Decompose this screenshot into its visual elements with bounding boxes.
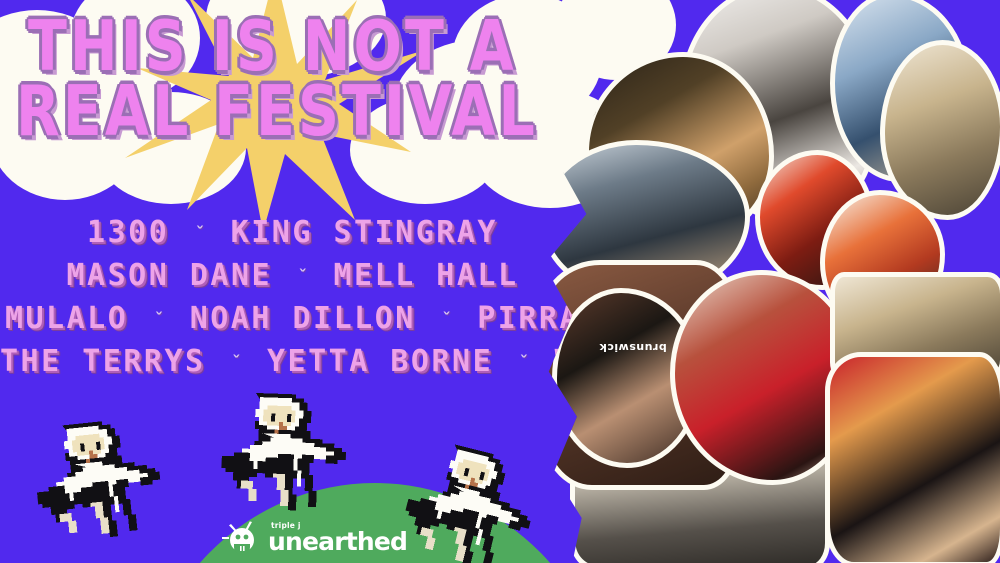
separator-icon: ˇ bbox=[293, 267, 313, 287]
separator-icon: ˇ bbox=[149, 310, 169, 330]
separator-icon: ˇ bbox=[514, 353, 534, 373]
artist-name[interactable]: MULALO bbox=[5, 301, 128, 336]
artist-name[interactable]: MELL HALL bbox=[333, 258, 518, 293]
artist-name[interactable]: PIRRA bbox=[477, 301, 580, 336]
lineup-row: 1300 ˇ KING STINGRAY bbox=[0, 212, 585, 255]
lineup-row: MASON DANE ˇ MELL HALL bbox=[0, 255, 585, 298]
artist-name[interactable]: YETTA BORNE bbox=[267, 344, 493, 379]
triplej-unearthed-logo[interactable]: triple j unearthed bbox=[222, 516, 362, 560]
festival-poster: THIS IS NOT A REAL FESTIVAL 1300 ˇ KING … bbox=[0, 0, 1000, 563]
artist-name[interactable]: 1300 bbox=[87, 215, 169, 250]
separator-icon: ˇ bbox=[226, 353, 246, 373]
photo-red-backdrop-duo bbox=[825, 352, 1000, 563]
pixel-lamb-icon bbox=[29, 408, 166, 552]
artist-name[interactable]: THE TERRYS bbox=[0, 344, 206, 379]
pixel-lamb-icon bbox=[220, 384, 349, 520]
unearthed-label: unearthed bbox=[268, 529, 407, 554]
artist-name[interactable]: KING STINGRAY bbox=[231, 215, 498, 250]
title-line-2: REAL FESTIVAL bbox=[16, 79, 596, 146]
logo-wordmark: triple j unearthed bbox=[268, 522, 407, 555]
artist-name[interactable]: NOAH DILLON bbox=[190, 301, 416, 336]
artist-name[interactable]: MASON DANE bbox=[66, 258, 272, 293]
separator-icon: ˇ bbox=[190, 224, 210, 244]
unearthed-bug-icon bbox=[222, 520, 264, 556]
lineup-list: 1300 ˇ KING STINGRAY MASON DANE ˇ MELL H… bbox=[0, 212, 585, 384]
artist-photo-collage: brunswick bbox=[530, 0, 1000, 563]
cap-text-label: brunswick bbox=[599, 341, 667, 354]
lineup-row: MULALO ˇ NOAH DILLON ˇ PIRRA bbox=[0, 298, 585, 341]
page-title: THIS IS NOT A REAL FESTIVAL bbox=[16, 14, 596, 133]
lineup-row: THE TERRYS ˇ YETTA BORNE ˇ WIGZ bbox=[0, 341, 585, 384]
separator-icon: ˇ bbox=[436, 310, 456, 330]
